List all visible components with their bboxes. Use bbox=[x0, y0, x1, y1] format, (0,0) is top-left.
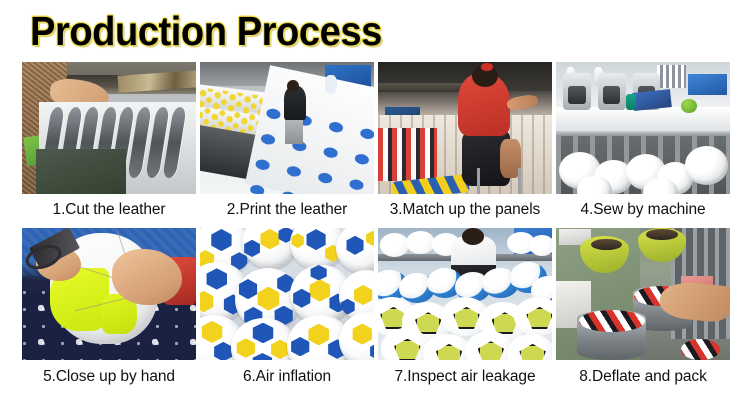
step-caption-3: 3.Match up the panels bbox=[378, 194, 552, 226]
worker-striped-shirt bbox=[657, 65, 687, 89]
blue-fabric bbox=[632, 89, 672, 111]
photo-close-up-by-hand bbox=[22, 228, 196, 360]
machine-head bbox=[603, 86, 620, 104]
step-caption-1: 1.Cut the leather bbox=[22, 194, 196, 226]
process-step-2[interactable]: 2.Print the leather bbox=[200, 62, 374, 226]
process-row-2: 5.Close up by hand bbox=[22, 228, 730, 394]
soccer-ball bbox=[336, 228, 374, 273]
ball-print bbox=[519, 344, 545, 360]
teal-bottle bbox=[626, 94, 636, 110]
photo-air-inflation bbox=[200, 228, 374, 360]
photo-deflate-and-pack bbox=[556, 228, 730, 360]
process-step-3[interactable]: 3.Match up the panels bbox=[378, 62, 552, 226]
worker-hand-right bbox=[112, 249, 182, 304]
process-step-5[interactable]: 5.Close up by hand bbox=[22, 228, 196, 394]
process-row-1: 1.Cut the leather 2.Print the leather bbox=[22, 62, 730, 226]
ball-print bbox=[453, 307, 479, 329]
blue-bin bbox=[688, 74, 726, 95]
far-worker bbox=[325, 75, 337, 93]
shelf-ball bbox=[529, 235, 552, 256]
page-title-wrap: Production Process bbox=[30, 8, 408, 54]
ball-print bbox=[436, 344, 462, 360]
photo-cut-the-leather bbox=[22, 62, 196, 194]
step-caption-8: 8.Deflate and pack bbox=[556, 360, 730, 394]
cage-rail bbox=[556, 131, 730, 136]
process-step-8[interactable]: 8.Deflate and pack bbox=[556, 228, 730, 394]
worker-arm bbox=[506, 94, 539, 112]
red-black-panel-stack bbox=[378, 128, 437, 181]
ball-print bbox=[478, 341, 504, 360]
page-title: Production Process bbox=[30, 11, 382, 52]
step-caption-2: 2.Print the leather bbox=[200, 194, 374, 226]
process-step-7[interactable]: 7.Inspect air leakage bbox=[378, 228, 552, 394]
machine-head bbox=[568, 86, 585, 104]
process-step-6[interactable]: 6.Air inflation bbox=[200, 228, 374, 394]
photo-print-the-leather bbox=[200, 62, 374, 194]
photo-sew-by-machine bbox=[556, 62, 730, 194]
process-step-1[interactable]: 1.Cut the leather bbox=[22, 62, 196, 226]
ball-print bbox=[394, 339, 420, 360]
step-caption-4: 4.Sew by machine bbox=[556, 194, 730, 226]
sewn-ball bbox=[685, 146, 729, 184]
packed-balls bbox=[681, 339, 719, 360]
inspector-head bbox=[462, 228, 485, 245]
photo-inspect-air-leakage bbox=[378, 228, 552, 360]
process-step-4[interactable]: 4.Sew by machine bbox=[556, 62, 730, 226]
production-process-grid: 1.Cut the leather 2.Print the leather bbox=[22, 62, 730, 394]
machine-base bbox=[36, 149, 126, 194]
step-caption-7: 7.Inspect air leakage bbox=[378, 360, 552, 394]
funnel-mouth bbox=[646, 229, 677, 240]
shelf-ball bbox=[406, 231, 436, 255]
photo-match-up-the-panels bbox=[378, 62, 552, 194]
worker-legs bbox=[285, 117, 302, 143]
step-caption-6: 6.Air inflation bbox=[200, 360, 374, 394]
packed-balls bbox=[579, 310, 645, 332]
step-caption-5: 5.Close up by hand bbox=[22, 360, 196, 394]
shelf-ball bbox=[380, 233, 410, 257]
ball-print bbox=[526, 307, 552, 329]
soccer-ball bbox=[339, 312, 374, 360]
stool bbox=[477, 168, 521, 194]
